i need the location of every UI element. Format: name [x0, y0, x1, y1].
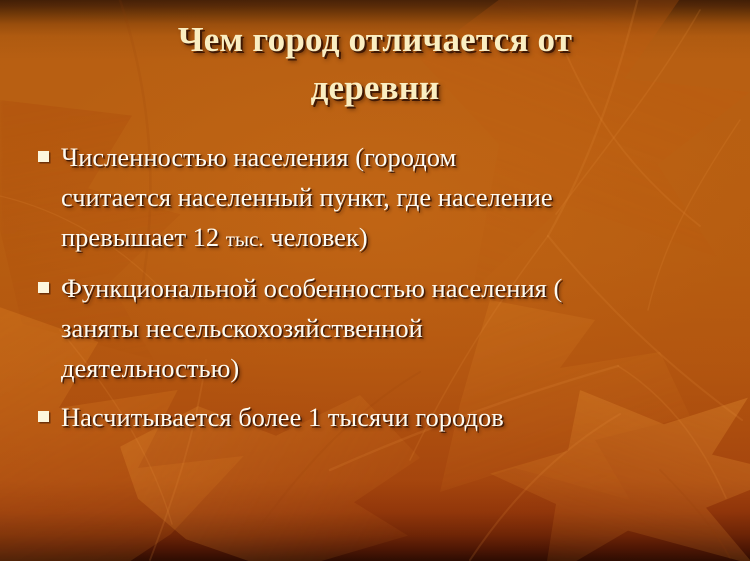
list-item: Функциональной особенностью населения ( …	[38, 268, 726, 388]
bullet-1-line-1: Численностью населения (городом	[61, 137, 726, 177]
bullet-2-line-1: Функциональной особенностью населения (	[61, 268, 726, 308]
bullet-1-line-3: превышает 12 тыс. человек)	[61, 217, 726, 259]
slide-title-line-1: Чем город отличается от	[50, 16, 700, 64]
bullet-2-line-2: заняты несельскохозяйственной	[61, 308, 726, 348]
bullet-1-line-2: считается населенный пункт, где населени…	[61, 177, 726, 217]
bullet-list: Численностью населения (городом считаетс…	[38, 137, 726, 446]
square-bullet-icon	[38, 151, 49, 162]
square-bullet-icon	[38, 411, 49, 422]
bullet-text-2: Функциональной особенностью населения ( …	[61, 268, 726, 388]
slide-title-line-2: деревни	[50, 64, 700, 112]
presentation-slide: Чем город отличается от деревни Численно…	[0, 0, 750, 561]
bullet-text-3: Насчитывается более 1 тысячи городов	[61, 397, 726, 437]
bullet-text-1: Численностью населения (городом считаетс…	[61, 137, 726, 259]
list-item: Численностью населения (городом считаетс…	[38, 137, 726, 259]
square-bullet-icon	[38, 282, 49, 293]
bullet-3-line-1: Насчитывается более 1 тысячи городов	[61, 397, 726, 437]
list-item: Насчитывается более 1 тысячи городов	[38, 397, 726, 437]
slide-title: Чем город отличается от деревни	[50, 16, 700, 112]
bullet-2-line-3: деятельностью)	[61, 348, 726, 388]
